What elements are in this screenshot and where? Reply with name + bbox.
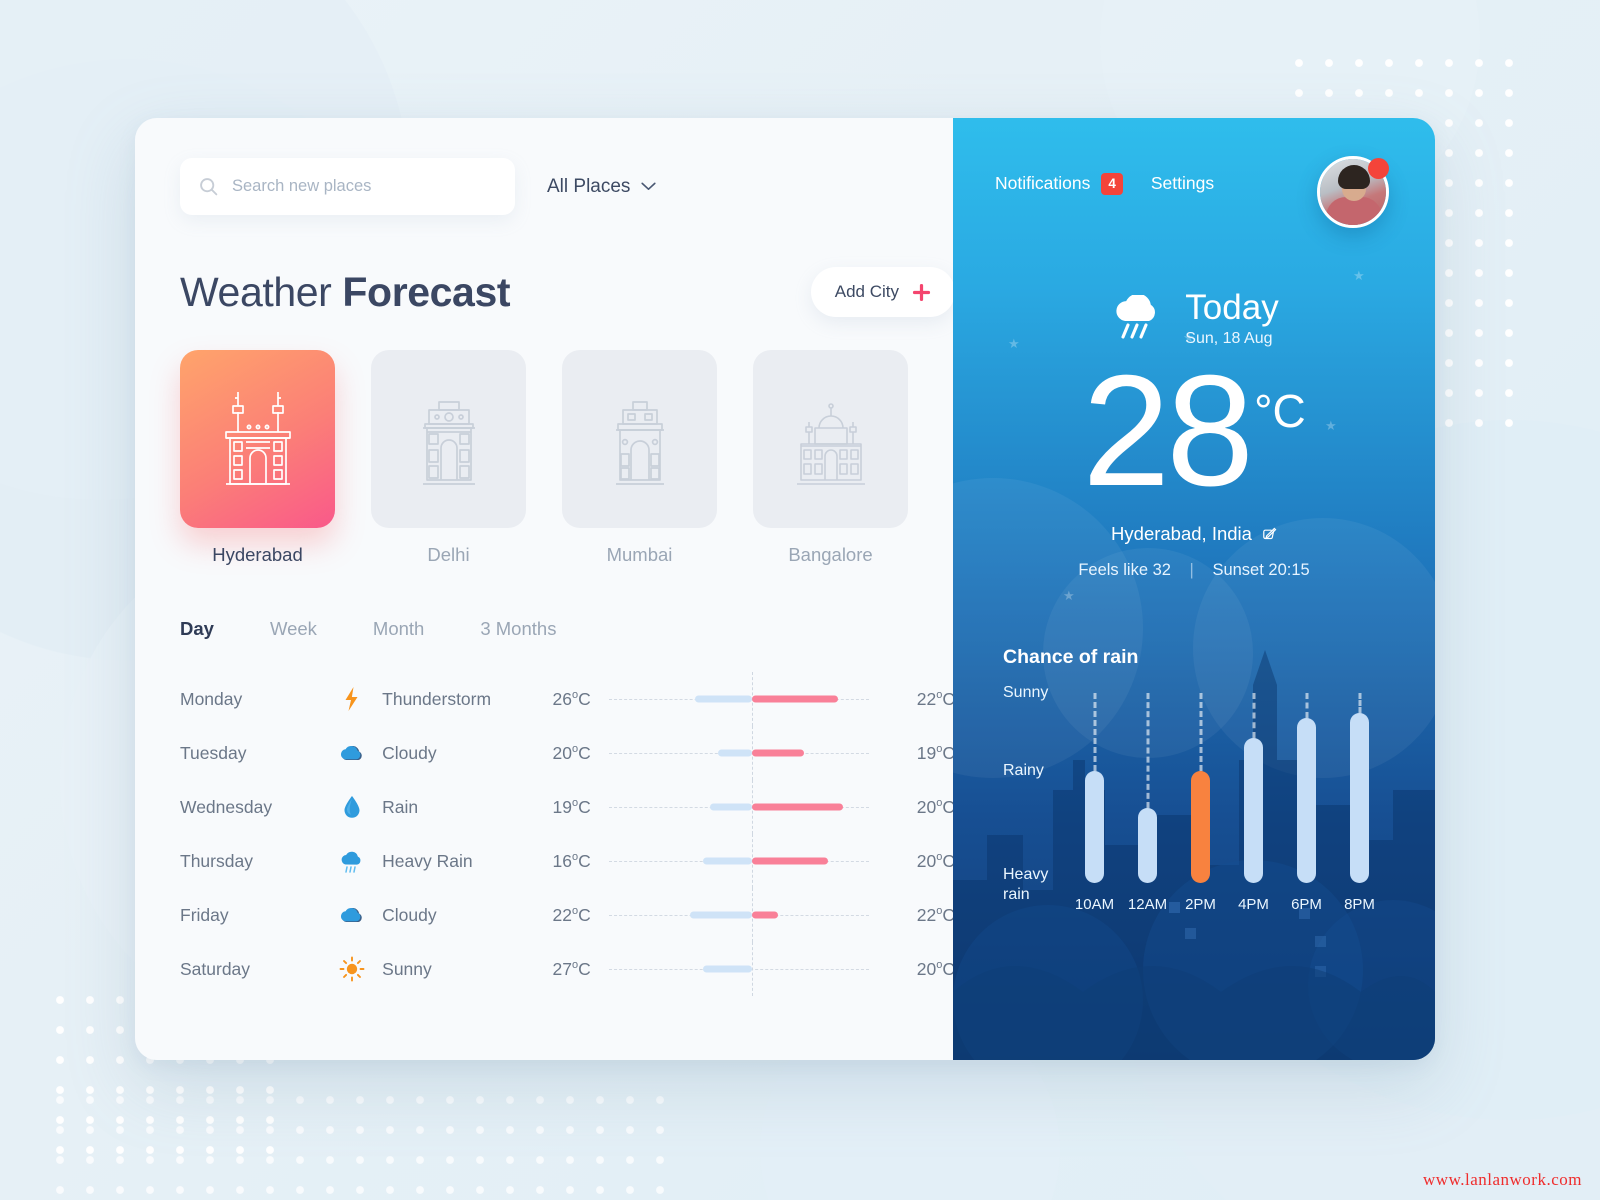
forecast-temp-high: 20oC bbox=[887, 959, 955, 980]
forecast-range-bar bbox=[609, 834, 870, 888]
sunset-text: Sunset 20:15 bbox=[1212, 561, 1309, 579]
today-header: Today Sun, 18 Aug bbox=[953, 290, 1435, 349]
forecast-row[interactable]: Wednesday Rain 19oC 20oC bbox=[180, 780, 955, 834]
places-filter-label: All Places bbox=[547, 176, 630, 198]
range-bar-hot bbox=[752, 912, 778, 919]
forecast-temp-low: 22oC bbox=[523, 905, 591, 926]
india-gate-icon bbox=[399, 384, 499, 494]
range-bar-cold bbox=[703, 858, 753, 865]
forecast-temp-high: 20oC bbox=[887, 797, 955, 818]
range-bar-cold bbox=[710, 804, 752, 811]
page-title: Weather Forecast bbox=[180, 269, 510, 316]
forecast-row[interactable]: Saturday Sunny 27oC 20oC bbox=[180, 942, 955, 996]
chart-x-label: 2PM bbox=[1176, 896, 1225, 913]
city-label: Bangalore bbox=[753, 544, 908, 566]
city-label: Hyderabad bbox=[180, 544, 335, 566]
notifications-badge: 4 bbox=[1101, 173, 1123, 195]
chart-x-label: 6PM bbox=[1282, 896, 1331, 913]
top-toolbar: All Places bbox=[180, 158, 953, 215]
forecast-condition-label: Sunny bbox=[382, 959, 432, 980]
forecast-condition-label: Cloudy bbox=[382, 743, 436, 764]
gateway-of-india-icon bbox=[590, 384, 690, 494]
decorative-dot-grid bbox=[45, 1085, 665, 1195]
chart-bar-stem bbox=[1199, 693, 1202, 771]
add-city-button[interactable]: Add City bbox=[811, 267, 955, 317]
chart-bar[interactable] bbox=[1244, 738, 1263, 883]
forecast-condition: Cloudy bbox=[339, 740, 523, 766]
range-bar-cold bbox=[718, 750, 752, 757]
range-bar-cold bbox=[695, 696, 752, 703]
avatar-body bbox=[1326, 197, 1382, 225]
avatar[interactable] bbox=[1317, 156, 1389, 228]
notifications-label: Notifications bbox=[995, 173, 1090, 194]
today-text: Today Sun, 18 Aug bbox=[1185, 290, 1278, 349]
vidhana-soudha-icon bbox=[781, 384, 881, 494]
city-tile[interactable] bbox=[180, 350, 335, 528]
forecast-range-bar bbox=[609, 888, 870, 942]
temperature-value: 28 bbox=[1082, 354, 1250, 509]
edit-icon[interactable] bbox=[1262, 527, 1277, 542]
range-bar-hot bbox=[752, 696, 838, 703]
forecast-row[interactable]: Friday Cloudy 22oC 22oC bbox=[180, 888, 955, 942]
range-bar-cold bbox=[690, 912, 753, 919]
forecast-condition: Cloudy bbox=[339, 902, 523, 928]
avatar-hair bbox=[1338, 165, 1370, 189]
city-tile[interactable] bbox=[753, 350, 908, 528]
chart-bar-stem bbox=[1305, 693, 1308, 718]
forecast-day: Wednesday bbox=[180, 797, 339, 818]
forecast-range-bar bbox=[609, 942, 870, 996]
right-top-nav: Notifications 4 Settings bbox=[953, 118, 1435, 195]
forecast-temp-high: 20oC bbox=[887, 851, 955, 872]
plus-icon bbox=[912, 283, 931, 302]
chart-bars: 10AM 12AM 2PM 4PM 6PM 8PM bbox=[1085, 693, 1403, 915]
sunny-icon bbox=[339, 956, 365, 982]
range-bar-cold bbox=[703, 966, 753, 973]
forecast-condition-label: Heavy Rain bbox=[382, 851, 472, 872]
city-tile[interactable] bbox=[371, 350, 526, 528]
chance-of-rain-title: Chance of rain bbox=[1003, 646, 1435, 669]
forecast-list: Monday Thunderstorm 26oC 22oCTuesday Clo… bbox=[180, 672, 955, 996]
chevron-down-icon bbox=[641, 182, 656, 191]
chart-y-label: Sunny bbox=[1003, 683, 1081, 703]
thunderstorm-icon bbox=[339, 686, 365, 712]
forecast-range-bar bbox=[609, 780, 870, 834]
forecast-temp-high: 22oC bbox=[887, 689, 955, 710]
forecast-day: Tuesday bbox=[180, 743, 339, 764]
forecast-condition-label: Cloudy bbox=[382, 905, 436, 926]
charminar-icon bbox=[208, 384, 308, 494]
current-temperature: 28 °C bbox=[953, 354, 1435, 509]
add-city-label: Add City bbox=[835, 282, 899, 302]
title-row: Weather Forecast Add City bbox=[180, 267, 955, 317]
settings-link[interactable]: Settings bbox=[1151, 173, 1214, 194]
forecast-temp-low: 20oC bbox=[523, 743, 591, 764]
forecast-temp-low: 16oC bbox=[523, 851, 591, 872]
city-label: Mumbai bbox=[562, 544, 717, 566]
chart-bar-stem bbox=[1252, 693, 1255, 738]
forecast-condition: Rain bbox=[339, 794, 523, 820]
chart-bar-stem bbox=[1358, 693, 1361, 713]
cloudy-icon bbox=[339, 902, 365, 928]
tab-week[interactable]: Week bbox=[270, 618, 317, 640]
city-list: Hyderabad Delhi Mumbai bbox=[180, 350, 953, 566]
feels-like-text: Feels like 32 bbox=[1078, 561, 1171, 579]
chart-bar[interactable] bbox=[1138, 808, 1157, 883]
page-title-light: Weather bbox=[180, 269, 342, 315]
city-card-bangalore[interactable]: Bangalore bbox=[753, 350, 908, 566]
settings-label: Settings bbox=[1151, 173, 1214, 194]
forecast-row[interactable]: Tuesday Cloudy 20oC 19oC bbox=[180, 726, 955, 780]
location-label: Hyderabad, India bbox=[1111, 523, 1252, 545]
search-icon bbox=[198, 176, 219, 197]
rain-drop-icon bbox=[339, 794, 365, 820]
temperature-unit: °C bbox=[1254, 384, 1306, 438]
forecast-day: Monday bbox=[180, 689, 339, 710]
chart-bar-stem bbox=[1093, 693, 1096, 771]
avatar-status-dot bbox=[1368, 158, 1389, 179]
chart-x-label: 8PM bbox=[1335, 896, 1384, 913]
chart-bar[interactable] bbox=[1350, 713, 1369, 883]
forecast-day: Thursday bbox=[180, 851, 339, 872]
city-card-mumbai[interactable]: Mumbai bbox=[562, 350, 717, 566]
city-card-hyderabad[interactable]: Hyderabad bbox=[180, 350, 335, 566]
chart-x-label: 10AM bbox=[1070, 896, 1119, 913]
forecast-range-bar bbox=[609, 726, 870, 780]
forecast-temp-low: 27oC bbox=[523, 959, 591, 980]
city-card-delhi[interactable]: Delhi bbox=[371, 350, 526, 566]
heavy-rain-icon bbox=[339, 848, 365, 874]
chart-bar[interactable] bbox=[1085, 771, 1104, 883]
period-tabs: DayWeekMonth3 Months bbox=[180, 618, 953, 640]
range-bar-hot bbox=[752, 858, 828, 865]
current-location[interactable]: Hyderabad, India bbox=[953, 523, 1435, 545]
right-panel: ★ ★ ★ ★ ★ Notifications 4 bbox=[953, 118, 1435, 1060]
rain-cloud-icon bbox=[1109, 295, 1167, 343]
notifications-link[interactable]: Notifications 4 bbox=[995, 173, 1123, 195]
forecast-temp-high: 22oC bbox=[887, 905, 955, 926]
chance-of-rain-chart: SunnyRainyHeavyrain 10AM 12AM 2PM 4PM 6P… bbox=[1003, 693, 1403, 915]
forecast-temp-low: 26oC bbox=[523, 689, 591, 710]
chart-x-label: 4PM bbox=[1229, 896, 1278, 913]
city-label: Delhi bbox=[371, 544, 526, 566]
left-panel: All Places Weather Forecast Add City bbox=[135, 118, 953, 1060]
cloudy-icon bbox=[339, 740, 365, 766]
forecast-day: Friday bbox=[180, 905, 339, 926]
meta-separator: | bbox=[1190, 561, 1194, 579]
tab-day[interactable]: Day bbox=[180, 618, 214, 640]
current-meta: Feels like 32 | Sunset 20:15 bbox=[953, 561, 1435, 580]
chart-x-label: 12AM bbox=[1123, 896, 1172, 913]
forecast-temp-high: 19oC bbox=[887, 743, 955, 764]
search-input[interactable] bbox=[232, 177, 497, 196]
forecast-condition: Heavy Rain bbox=[339, 848, 523, 874]
forecast-condition-label: Rain bbox=[382, 797, 418, 818]
chance-of-rain-section: Chance of rain SunnyRainyHeavyrain 10AM … bbox=[953, 646, 1435, 915]
forecast-condition-label: Thunderstorm bbox=[382, 689, 491, 710]
forecast-row[interactable]: Thursday Heavy Rain 16oC 20oC bbox=[180, 834, 955, 888]
range-axis-line bbox=[752, 942, 753, 996]
tab-3-months[interactable]: 3 Months bbox=[480, 618, 556, 640]
watermark: www.lanlanwork.com bbox=[1423, 1170, 1582, 1190]
chart-bar[interactable] bbox=[1191, 771, 1210, 883]
range-bar-hot bbox=[752, 750, 804, 757]
chart-bar[interactable] bbox=[1297, 718, 1316, 883]
range-bar-hot bbox=[752, 804, 843, 811]
forecast-range-bar bbox=[609, 672, 870, 726]
forecast-condition: Sunny bbox=[339, 956, 523, 982]
forecast-row[interactable]: Monday Thunderstorm 26oC 22oC bbox=[180, 672, 955, 726]
forecast-day: Saturday bbox=[180, 959, 339, 980]
chart-y-label: Rainy bbox=[1003, 761, 1081, 781]
forecast-condition: Thunderstorm bbox=[339, 686, 523, 712]
tab-month[interactable]: Month bbox=[373, 618, 424, 640]
places-filter-dropdown[interactable]: All Places bbox=[547, 176, 656, 198]
dashboard-card: All Places Weather Forecast Add City bbox=[135, 118, 1435, 1060]
search-box[interactable] bbox=[180, 158, 515, 215]
forecast-temp-low: 19oC bbox=[523, 797, 591, 818]
page-title-bold: Forecast bbox=[342, 269, 510, 315]
chart-bar-stem bbox=[1146, 693, 1149, 808]
city-tile[interactable] bbox=[562, 350, 717, 528]
today-label: Today bbox=[1185, 290, 1278, 327]
